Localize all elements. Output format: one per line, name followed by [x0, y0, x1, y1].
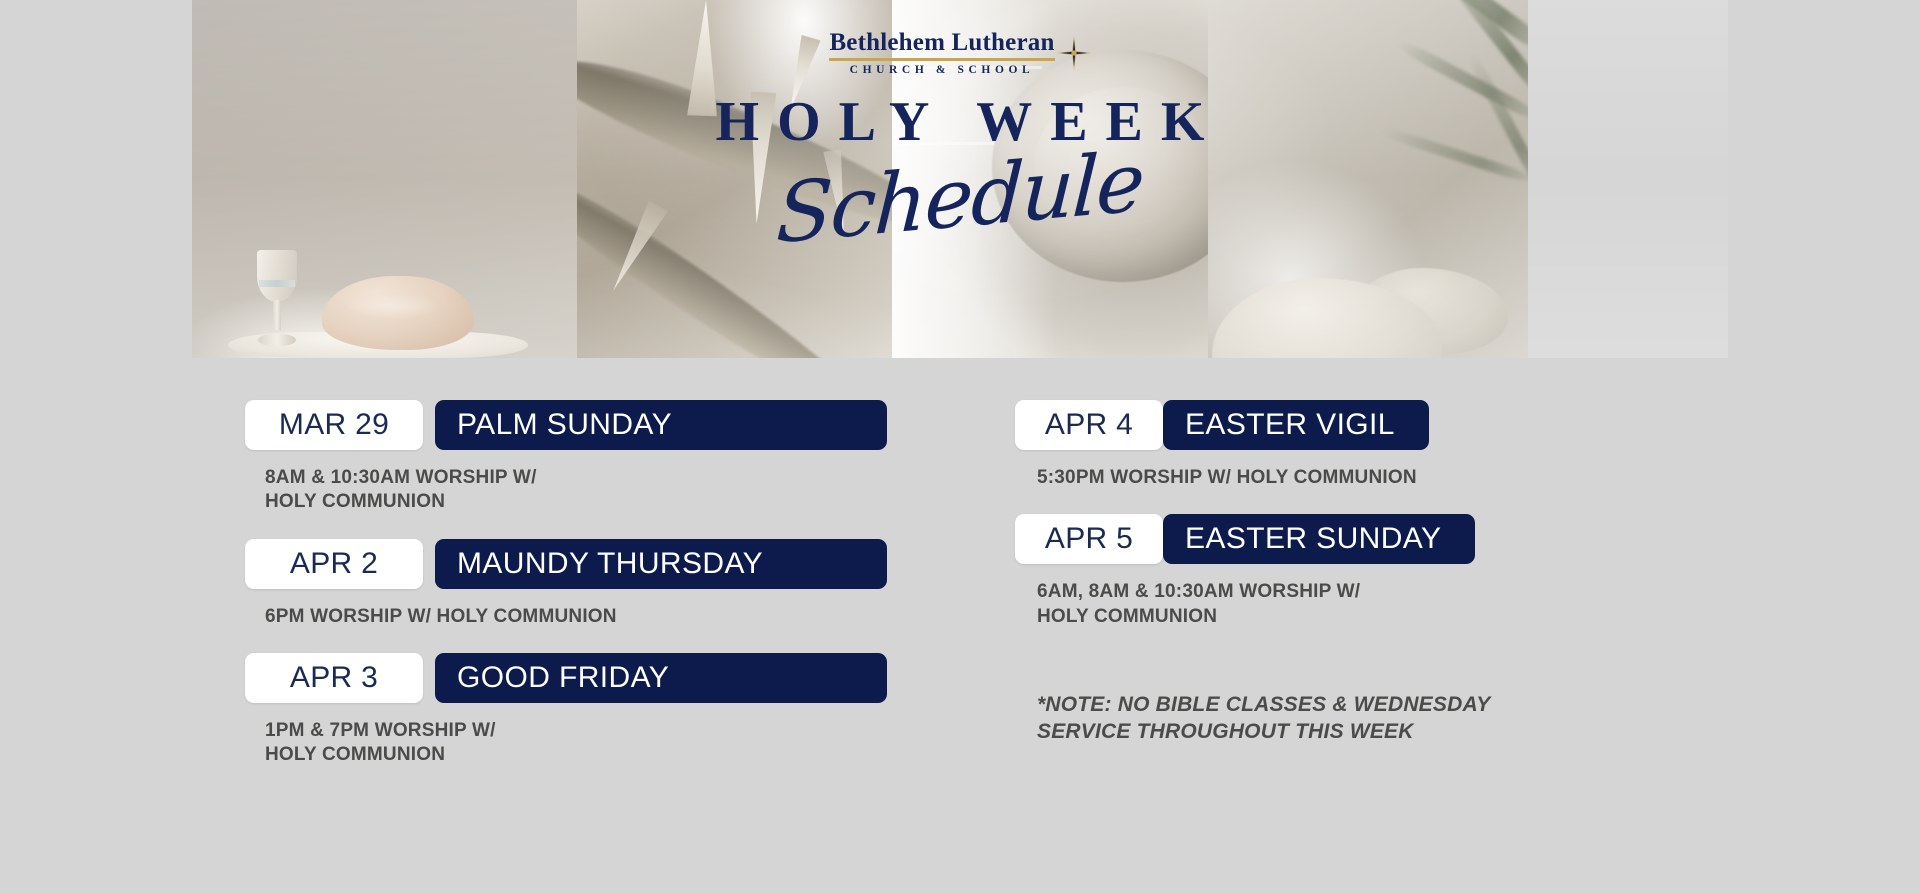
schedule-row: APR 4 EASTER VIGIL 5:30PM WORSHIP W/ HOL…: [1015, 400, 1675, 490]
holy-week-schedule-page: Bethlehem Lutheran CHURCH & SCHOOL HOLY …: [0, 0, 1920, 893]
schedule-row-badges: APR 4 EASTER VIGIL: [1015, 400, 1675, 450]
event-badge[interactable]: EASTER VIGIL: [1163, 400, 1429, 450]
church-logo: Bethlehem Lutheran CHURCH & SCHOOL: [810, 30, 1110, 76]
schedule-row-badges: APR 5 EASTER SUNDAY: [1015, 514, 1675, 564]
schedule-row: APR 3 GOOD FRIDAY 1PM & 7PM WORSHIP W/ H…: [245, 653, 905, 768]
logo-gold-rule: [829, 58, 1054, 61]
schedule-row-badges: MAR 29 PALM SUNDAY: [245, 400, 905, 450]
logo-subtitle: CHURCH & SCHOOL: [829, 64, 1054, 76]
schedule-row-badges: APR 3 GOOD FRIDAY: [245, 653, 905, 703]
schedule-note: *NOTE: NO BIBLE CLASSES & WEDNESDAY SERV…: [1037, 691, 1675, 746]
left-gutter: [0, 0, 192, 358]
star-burst-icon: [1057, 36, 1091, 70]
event-detail: 6AM, 8AM & 10:30AM WORSHIP W/ HOLY COMMU…: [1037, 580, 1675, 629]
logo-wordmark: Bethlehem Lutheran CHURCH & SCHOOL: [829, 30, 1054, 76]
page-subtitle-script: Schedule: [775, 137, 1146, 260]
event-detail: 6PM WORSHIP W/ HOLY COMMUNION: [265, 605, 905, 629]
date-badge[interactable]: APR 2: [245, 539, 423, 589]
date-badge[interactable]: APR 5: [1015, 514, 1163, 564]
event-badge[interactable]: PALM SUNDAY: [435, 400, 887, 450]
right-gutter: [1728, 0, 1920, 358]
event-detail: 8AM & 10:30AM WORSHIP W/ HOLY COMMUNION: [265, 466, 905, 515]
date-badge[interactable]: MAR 29: [245, 400, 423, 450]
event-badge[interactable]: EASTER SUNDAY: [1163, 514, 1475, 564]
schedule-grid: MAR 29 PALM SUNDAY 8AM & 10:30AM WORSHIP…: [0, 400, 1920, 768]
schedule-column-left: MAR 29 PALM SUNDAY 8AM & 10:30AM WORSHIP…: [245, 400, 905, 768]
schedule-column-right: APR 4 EASTER VIGIL 5:30PM WORSHIP W/ HOL…: [1015, 400, 1675, 768]
date-badge[interactable]: APR 3: [245, 653, 423, 703]
schedule-row: MAR 29 PALM SUNDAY 8AM & 10:30AM WORSHIP…: [245, 400, 905, 515]
event-detail: 1PM & 7PM WORSHIP W/ HOLY COMMUNION: [265, 719, 905, 768]
schedule-row: APR 2 MAUNDY THURSDAY 6PM WORSHIP W/ HOL…: [245, 539, 905, 629]
schedule-row: APR 5 EASTER SUNDAY 6AM, 8AM & 10:30AM W…: [1015, 514, 1675, 629]
hero-banner: Bethlehem Lutheran CHURCH & SCHOOL HOLY …: [192, 0, 1728, 358]
event-detail: 5:30PM WORSHIP W/ HOLY COMMUNION: [1037, 466, 1675, 490]
event-badge[interactable]: MAUNDY THURSDAY: [435, 539, 887, 589]
logo-name: Bethlehem Lutheran: [829, 30, 1054, 56]
schedule-row-badges: APR 2 MAUNDY THURSDAY: [245, 539, 905, 589]
hero-text-block: Bethlehem Lutheran CHURCH & SCHOOL HOLY …: [192, 0, 1728, 358]
event-badge[interactable]: GOOD FRIDAY: [435, 653, 887, 703]
date-badge[interactable]: APR 4: [1015, 400, 1163, 450]
